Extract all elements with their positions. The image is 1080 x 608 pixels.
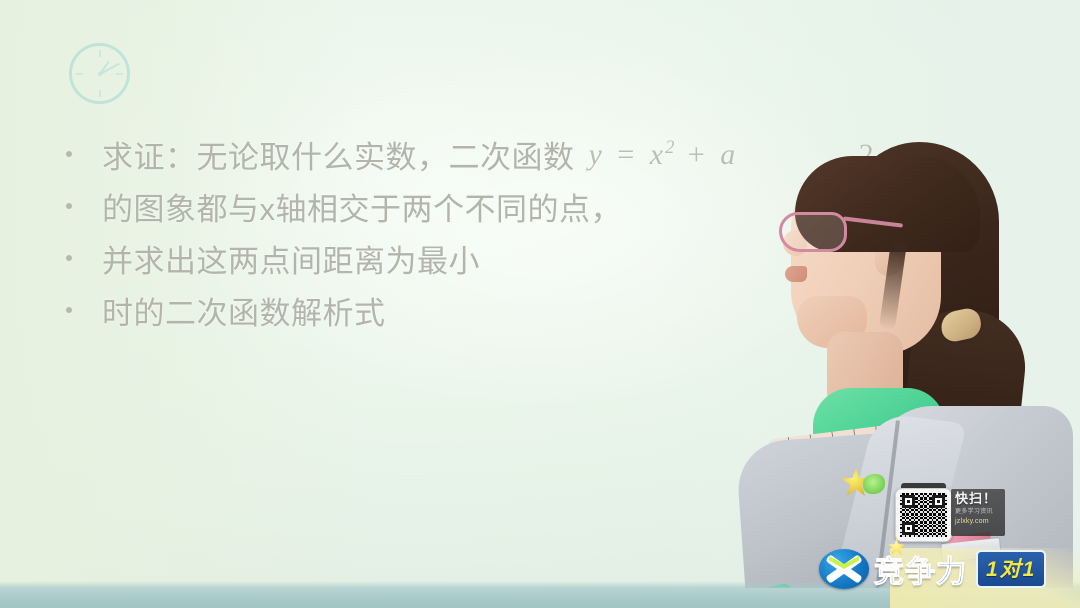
bullet-dot-icon — [66, 203, 72, 209]
bullet-line-3-text: 并求出这两点间距离为最小 — [102, 236, 480, 281]
bullet-line-2-text: 的图象都与x轴相交于两个不同的点， — [102, 184, 622, 229]
bullet-dot-icon — [66, 255, 72, 261]
qr-url-text: jzlxky.com — [955, 517, 1001, 526]
bullet-dot-icon — [66, 307, 72, 313]
qr-finder-top-left — [902, 495, 915, 508]
qr-code[interactable] — [895, 488, 952, 542]
formula-exponent: 2 — [665, 137, 674, 158]
qr-finder-bottom-left — [902, 522, 915, 535]
qr-caption-panel: 快扫！ 更多学习资讯 jzlxky.com — [951, 489, 1005, 536]
formula-variable: x — [650, 138, 665, 171]
clock-icon — [69, 43, 130, 104]
formula-plus: + — [684, 138, 711, 171]
lips — [785, 266, 807, 282]
bullet-dot-icon — [66, 151, 72, 157]
formula-lhs: y — [589, 138, 604, 171]
x-logo-icon — [819, 549, 869, 589]
video-frame: 求证：无论取什么实数，二次函数 y = x2 + a 2 的图象都与x轴相交于两… — [0, 0, 1080, 608]
formula-equals: = — [613, 138, 640, 171]
brand-name-text: 竞争力 — [874, 547, 967, 591]
qr-finder-top-right — [932, 495, 945, 508]
leaf-brooch-icon — [863, 474, 885, 494]
brand-watermark: 竞争力 1对1 — [819, 546, 1046, 592]
bullet-line-4-text: 时的二次函数解析式 — [102, 288, 386, 333]
bullet-line-1-text: 求证：无论取什么实数，二次函数 — [102, 132, 575, 177]
qr-subtitle-text: 更多学习资讯 — [955, 508, 1001, 516]
glasses-lens — [779, 212, 847, 252]
brand-name-label: 竞争力 — [874, 556, 967, 589]
qr-cta-text: 快扫！ — [955, 492, 1001, 506]
brand-tagline-badge: 1对1 — [976, 550, 1046, 588]
